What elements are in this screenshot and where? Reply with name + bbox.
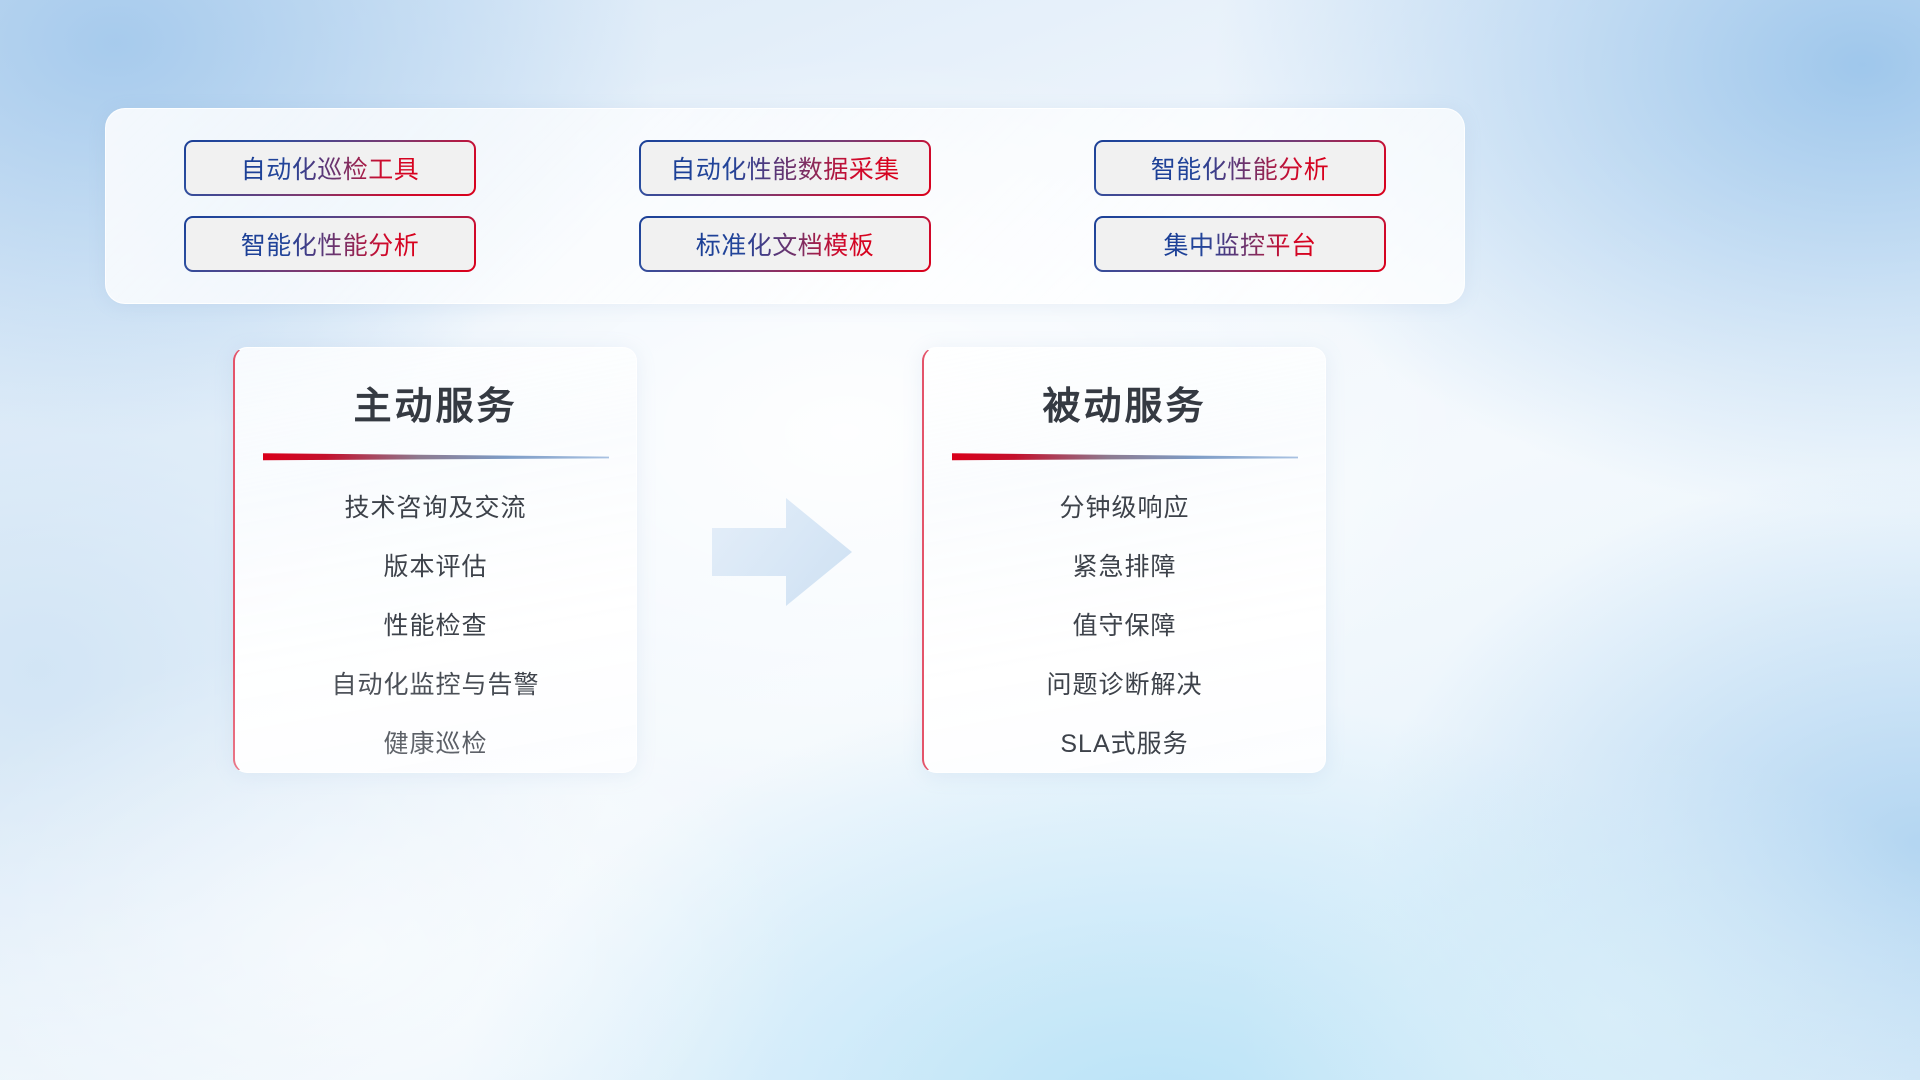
list-item: 分钟级响应 [1059,488,1189,524]
card-active-service: 主动服务 技术咨询及交流 版本评估 性能检查 自动化监控与告警 [233,347,637,773]
tag-pill-automated-performance-data-collection[interactable]: 自动化性能数据采集 [639,140,931,196]
tag-label: 智能化性能分析 [241,226,420,262]
capability-tag-panel: 自动化巡检工具 自动化性能数据采集 智能化性能分析 智能化性能分析 标准化文档模… [105,108,1465,304]
card-passive-service: 被动服务 分钟级响应 紧急排障 值守保障 问题诊断解决 [922,347,1326,773]
list-item: 自动化监控与告警 [331,665,539,701]
tag-pill-standardized-document-template[interactable]: 标准化文档模板 [639,216,931,272]
card-divider-gradient [263,452,609,462]
tag-row-1: 自动化巡检工具 自动化性能数据采集 智能化性能分析 [184,140,1386,196]
list-item: SLA式服务 [1060,724,1188,760]
tag-label: 自动化巡检工具 [241,150,420,186]
list-item: 问题诊断解决 [1046,665,1202,701]
card-divider-gradient [952,452,1298,462]
tag-pill-intelligent-performance-analysis[interactable]: 智能化性能分析 [1094,140,1386,196]
list-item: 紧急排障 [1072,547,1176,583]
card-title: 主动服务 [235,375,636,430]
card-item-list: 技术咨询及交流 版本评估 性能检查 自动化监控与告警 健康巡检 [235,488,636,760]
tag-label: 智能化性能分析 [1151,150,1330,186]
tag-pill-intelligent-performance-analysis-2[interactable]: 智能化性能分析 [184,216,476,272]
list-item: 版本评估 [383,547,487,583]
diagram-canvas: 自动化巡检工具 自动化性能数据采集 智能化性能分析 智能化性能分析 标准化文档模… [0,0,1920,1080]
tag-label: 自动化性能数据采集 [670,150,900,186]
card-item-list: 分钟级响应 紧急排障 值守保障 问题诊断解决 SLA式服务 [924,488,1325,760]
list-item: 值守保障 [1072,606,1176,642]
tag-pill-automated-inspection-tool[interactable]: 自动化巡检工具 [184,140,476,196]
list-item: 技术咨询及交流 [344,488,526,524]
tag-label: 集中监控平台 [1163,226,1316,262]
card-title: 被动服务 [924,375,1325,430]
list-item: 性能检查 [383,606,487,642]
tag-pill-centralized-monitoring-platform[interactable]: 集中监控平台 [1094,216,1386,272]
tag-row-2: 智能化性能分析 标准化文档模板 集中监控平台 [184,216,1386,272]
list-item: 健康巡检 [383,724,487,760]
tag-label: 标准化文档模板 [696,226,875,262]
right-arrow-icon [712,498,852,606]
